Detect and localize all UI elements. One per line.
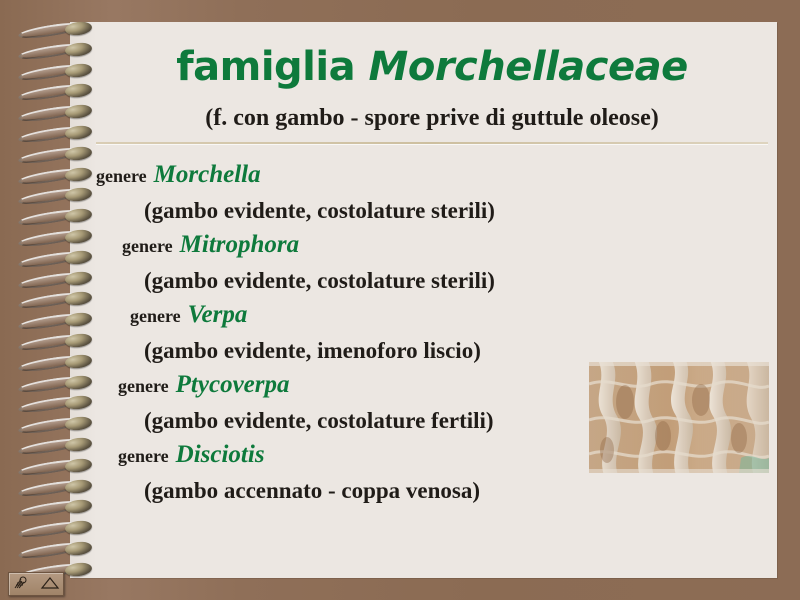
- genus-label: genere: [122, 236, 173, 256]
- genus-name: Mitrophora: [173, 231, 299, 258]
- genus-name: Disciotis: [169, 441, 265, 468]
- slide-mini-toolbar[interactable]: [8, 572, 64, 596]
- spiral-ring: [18, 542, 92, 555]
- spiral-ring: [18, 126, 92, 139]
- spiral-ring: [18, 355, 92, 368]
- spiral-ring: [18, 230, 92, 243]
- genus-description: (gambo accennato - coppa venosa): [96, 473, 772, 508]
- genus-row: genereMitrophora: [96, 228, 772, 263]
- spiral-binding: [0, 0, 110, 600]
- scribble-icon[interactable]: [13, 576, 33, 592]
- spiral-ring: [18, 84, 92, 97]
- spiral-ring: [18, 396, 92, 409]
- spiral-ring: [18, 521, 92, 534]
- spiral-ring: [18, 209, 92, 222]
- genus-label: genere: [118, 446, 169, 466]
- spiral-ring: [18, 417, 92, 430]
- spiral-ring: [18, 500, 92, 513]
- spiral-ring: [18, 313, 92, 326]
- spiral-ring: [18, 168, 92, 181]
- spiral-ring: [18, 459, 92, 472]
- spiral-ring: [18, 43, 92, 56]
- spiral-ring: [18, 480, 92, 493]
- genus-label: genere: [96, 166, 147, 186]
- page-subtitle: (f. con gambo - spore prive di guttule o…: [96, 105, 768, 132]
- spiral-ring: [18, 147, 92, 160]
- genus-label: genere: [130, 306, 181, 326]
- genus-row: genereMorchella: [96, 158, 772, 193]
- spiral-ring: [18, 272, 92, 285]
- presentation-slide: famiglia Morchellaceae (f. con gambo - s…: [0, 0, 800, 600]
- spiral-ring: [18, 438, 92, 451]
- morel-ridges-closeup-image: [589, 362, 769, 473]
- spiral-ring: [18, 64, 92, 77]
- genus-label: genere: [118, 376, 169, 396]
- genus-description: (gambo evidente, costolature sterili): [96, 263, 772, 298]
- genus-row: genereVerpa: [96, 298, 772, 333]
- spiral-ring: [18, 251, 92, 264]
- genus-name: Verpa: [181, 301, 248, 328]
- spiral-ring: [18, 292, 92, 305]
- spiral-ring: [18, 188, 92, 201]
- triangle-icon[interactable]: [40, 576, 60, 592]
- title-plain-word: famiglia: [176, 44, 355, 90]
- spiral-ring: [18, 334, 92, 347]
- genus-name: Morchella: [147, 161, 261, 188]
- spiral-ring: [18, 105, 92, 118]
- genus-name: Ptycoverpa: [169, 371, 290, 398]
- morel-photo-graphic: [589, 362, 769, 473]
- spiral-ring: [18, 376, 92, 389]
- genus-description: (gambo evidente, costolature sterili): [96, 193, 772, 228]
- page-title: famiglia Morchellaceae: [96, 44, 768, 90]
- title-divider: [96, 142, 768, 144]
- title-italic-word: Morchellaceae: [369, 44, 688, 90]
- spiral-ring: [18, 22, 92, 35]
